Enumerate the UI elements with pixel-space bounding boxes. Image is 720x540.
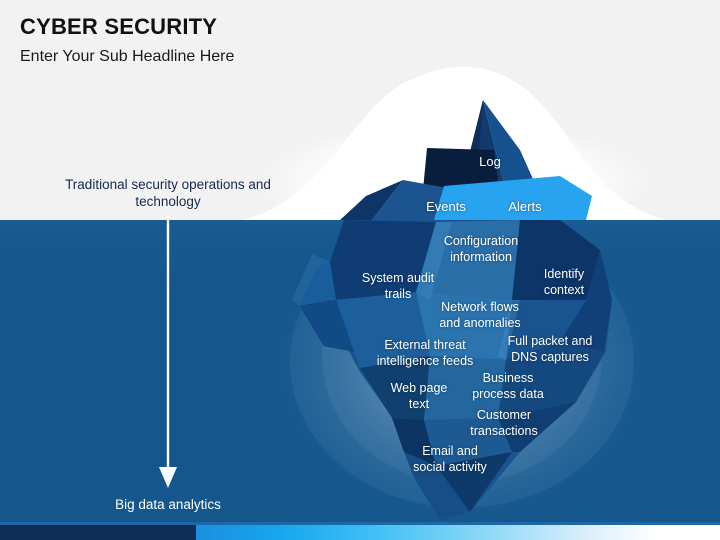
slide-canvas: CYBER SECURITY Enter Your Sub Headline H… xyxy=(0,0,720,540)
iceberg-illustration xyxy=(0,0,720,540)
page-subtitle: Enter Your Sub Headline Here xyxy=(20,46,234,68)
bottom-bar-gradient-segment xyxy=(196,525,720,540)
annotation-traditional-security: Traditional security operations and tech… xyxy=(62,176,274,210)
bottom-accent-bar xyxy=(0,525,720,540)
bottom-bar-navy-segment xyxy=(0,525,196,540)
annotation-big-data-analytics: Big data analytics xyxy=(62,496,274,513)
down-arrow-icon xyxy=(140,214,196,490)
header-block: CYBER SECURITY Enter Your Sub Headline H… xyxy=(20,14,234,68)
page-title: CYBER SECURITY xyxy=(20,14,234,40)
